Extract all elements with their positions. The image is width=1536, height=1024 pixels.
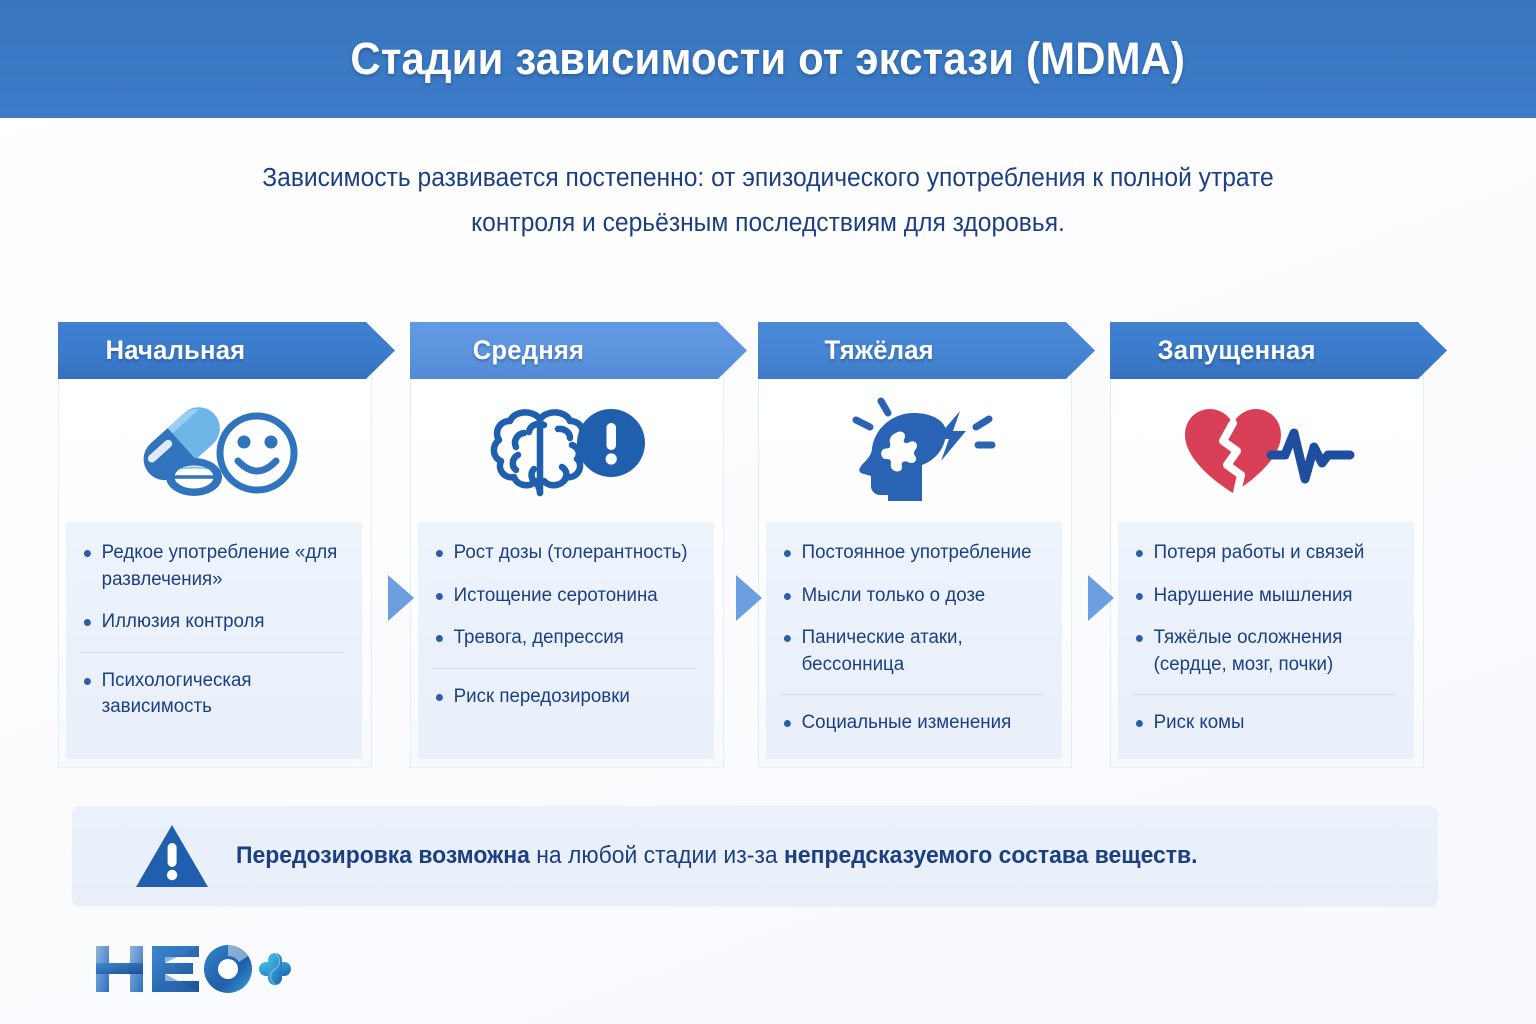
list-item: Мысли только о дозе bbox=[780, 583, 1044, 610]
stage-card-4[interactable]: Запущенная Потеря работы и связей Наруше… bbox=[1110, 322, 1422, 767]
stage-card-2[interactable]: Средняя Рост до bbox=[410, 322, 722, 767]
stage-header-3[interactable]: Тяжёлая bbox=[758, 322, 1095, 379]
stage-card-1[interactable]: Начальная bbox=[58, 322, 370, 767]
warning-bold-end: непредсказуемого состава веществ. bbox=[784, 842, 1197, 869]
list-item: Нарушение мышления bbox=[1132, 583, 1396, 610]
warning-middle: на любой стадии из-за bbox=[530, 842, 784, 869]
list-item: Редкое употребление «для развлечения» bbox=[80, 540, 344, 593]
list-item: Панические атаки, бессонница bbox=[780, 625, 1044, 678]
logo-letter-e bbox=[152, 946, 199, 992]
stage-bullets-1: Редкое употребление «для развлечения» Ил… bbox=[66, 522, 362, 759]
stage-bullets-4: Потеря работы и связей Нарушение мышлени… bbox=[1118, 522, 1414, 759]
brand-logo[interactable] bbox=[92, 938, 292, 1000]
page-header-band: Стадии зависимости от экстази (MDMA) bbox=[0, 0, 1536, 118]
stage-bullets-2: Рост дозы (толерантность) Истощение серо… bbox=[418, 522, 714, 759]
stage-header-4[interactable]: Запущенная bbox=[1110, 322, 1447, 379]
list-item: Риск передозировки bbox=[432, 668, 696, 711]
stage-label-2: Средняя bbox=[410, 335, 584, 366]
page-title: Стадии зависимости от экстази (MDMA) bbox=[351, 33, 1186, 85]
stage-label-1: Начальная bbox=[58, 335, 245, 366]
head-puzzle-lightning-icon bbox=[758, 379, 1070, 519]
logo-letter-o bbox=[204, 945, 252, 993]
stage-header-1[interactable]: Начальная bbox=[58, 322, 395, 379]
stage-header-2[interactable]: Средняя bbox=[410, 322, 747, 379]
list-item: Социальные изменения bbox=[780, 694, 1044, 737]
page-subtitle: Зависимость развивается постепенно: от э… bbox=[237, 156, 1299, 246]
stage-bullets-3: Постоянное употребление Мысли только о д… bbox=[766, 522, 1062, 759]
list-item: Риск комы bbox=[1132, 694, 1396, 737]
broken-heart-pulse-icon bbox=[1110, 379, 1422, 519]
list-item: Тяжёлые осложнения (сердце, мозг, почки) bbox=[1132, 625, 1396, 678]
warning-triangle-icon bbox=[134, 822, 210, 890]
stage-card-3[interactable]: Тяжёлая bbox=[758, 322, 1070, 767]
stage-label-3: Тяжёлая bbox=[758, 335, 934, 366]
warning-banner: Передозировка возможна на любой стадии и… bbox=[72, 806, 1438, 906]
list-item: Психологическая зависимость bbox=[80, 652, 344, 721]
list-item: Потеря работы и связей bbox=[1132, 540, 1396, 567]
list-item: Постоянное употребление bbox=[780, 540, 1044, 567]
list-item: Тревога, депрессия bbox=[432, 625, 696, 652]
stages-container: Начальная bbox=[58, 322, 1438, 767]
list-item: Иллюзия контроля bbox=[80, 609, 344, 636]
pills-smiley-icon bbox=[58, 379, 370, 519]
logo-plus-icon bbox=[259, 953, 291, 985]
warning-bold-start: Передозировка возможна bbox=[236, 842, 530, 869]
list-item: Рост дозы (толерантность) bbox=[432, 540, 696, 567]
logo-letter-n bbox=[96, 946, 143, 992]
brain-alert-icon bbox=[410, 379, 722, 519]
stage-label-4: Запущенная bbox=[1110, 335, 1316, 366]
list-item: Истощение серотонина bbox=[432, 583, 696, 610]
infographic-page: Стадии зависимости от экстази (MDMA) Зав… bbox=[0, 0, 1536, 1024]
warning-text: Передозировка возможна на любой стадии и… bbox=[236, 842, 1197, 870]
